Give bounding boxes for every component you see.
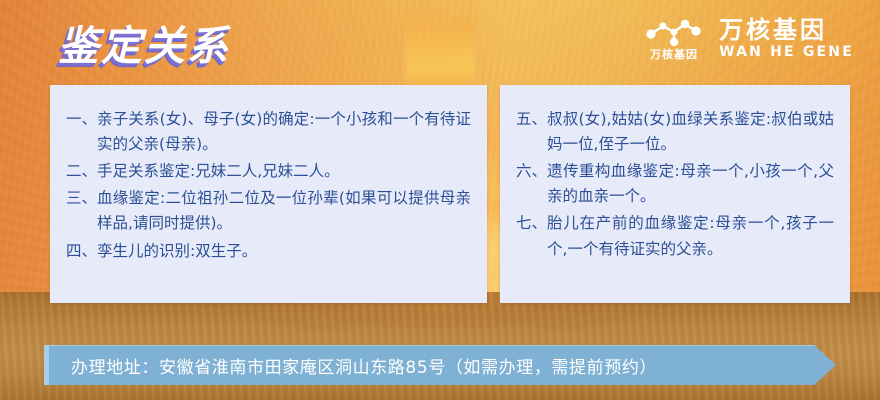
brand-name-cn: 万核基因 [719,18,854,42]
list-item-marker: 二、 [66,159,97,184]
list-item: 三、 血缘鉴定:二位祖孙二位及一位孙辈(如果可以提供母亲样品,请同时提供)。 [66,186,471,236]
panel-right: 五、 叔叔(女),姑姑(女)血绿关系鉴定:叔伯或姑妈一位,侄子一位。 六、 遗传… [500,85,850,303]
list-item: 六、 遗传重构血缘鉴定:母亲一个,小孩一个,父亲的血亲一个。 [516,159,834,209]
list-item-text: 手足关系鉴定:兄妹二人,兄妹二人。 [97,159,471,184]
poster-canvas: 鉴定关系 [0,0,880,400]
list-item-text: 血缘鉴定:二位祖孙二位及一位孙辈(如果可以提供母亲样品,请同时提供)。 [97,186,471,236]
list-item: 二、 手足关系鉴定:兄妹二人,兄妹二人。 [66,159,471,184]
brand-lockup: 万核基因 万核基因 WAN HE GENE [643,17,854,60]
list-item-marker: 四、 [66,239,97,264]
panel-left: 一、 亲子关系(女)、母子(女)的确定:一个小孩和一个有待证实的父亲(母亲)。 … [50,85,487,303]
brand-wordmark: 万核基因 WAN HE GENE [719,18,854,59]
list-item-marker: 五、 [516,107,547,132]
list-item-text: 孪生儿的识别:双生子。 [97,239,471,264]
list-item-marker: 七、 [516,211,547,236]
list-item-marker: 三、 [66,186,97,211]
list-item: 七、 胎儿在产前的血缘鉴定:母亲一个,孩子一个,一个有待证实的父亲。 [516,211,834,261]
list-item-marker: 六、 [516,159,547,184]
list-item-text: 亲子关系(女)、母子(女)的确定:一个小孩和一个有待证实的父亲(母亲)。 [97,107,471,157]
brand-logo-label: 万核基因 [650,49,698,60]
molecule-icon [643,17,705,47]
list-item: 四、 孪生儿的识别:双生子。 [66,239,471,264]
list-item-text: 叔叔(女),姑姑(女)血绿关系鉴定:叔伯或姑妈一位,侄子一位。 [547,107,834,157]
header: 鉴定关系 [0,0,880,86]
brand-logo: 万核基因 [643,17,705,60]
list-item-marker: 一、 [66,107,97,132]
list-item: 五、 叔叔(女),姑姑(女)血绿关系鉴定:叔伯或姑妈一位,侄子一位。 [516,107,834,157]
brand-name-en: WAN HE GENE [719,45,854,59]
page-title: 鉴定关系 [58,12,230,72]
address-text: 办理地址：安徽省淮南市田家庵区洞山东路85号（如需办理，需提前预约） [49,353,657,378]
address-ribbon: 办理地址：安徽省淮南市田家庵区洞山东路85号（如需办理，需提前预约） [44,345,836,385]
list-item-text: 遗传重构血缘鉴定:母亲一个,小孩一个,父亲的血亲一个。 [547,159,834,209]
list-item: 一、 亲子关系(女)、母子(女)的确定:一个小孩和一个有待证实的父亲(母亲)。 [66,107,471,157]
content-panels: 一、 亲子关系(女)、母子(女)的确定:一个小孩和一个有待证实的父亲(母亲)。 … [50,85,850,303]
list-item-text: 胎儿在产前的血缘鉴定:母亲一个,孩子一个,一个有待证实的父亲。 [547,211,834,261]
